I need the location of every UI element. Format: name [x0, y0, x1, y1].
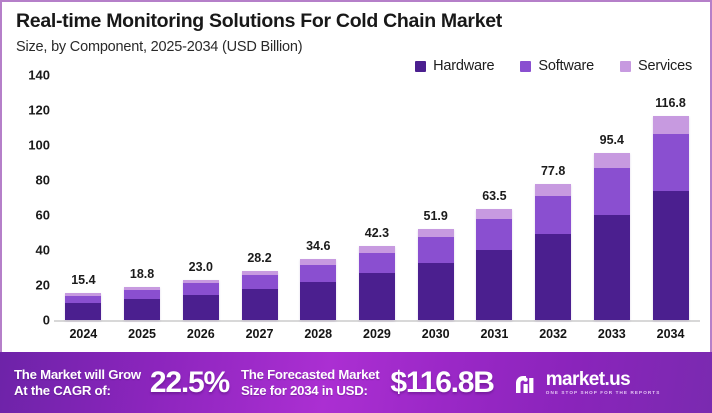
y-axis-tick: 80	[36, 173, 50, 188]
bar-segment-hardware	[65, 303, 101, 320]
bar-segment-hardware	[418, 263, 454, 320]
x-axis-tick: 2024	[69, 327, 97, 341]
stacked-bar[interactable]	[535, 184, 571, 320]
bar-segment-software	[476, 219, 512, 250]
logo-name: market.us	[546, 370, 661, 389]
bar-segment-services	[594, 153, 630, 168]
x-axis-tick: 2034	[657, 327, 685, 341]
legend-item-services[interactable]: Services	[620, 58, 692, 74]
bar-value-label: 42.3	[365, 226, 389, 240]
bar-group[interactable]: 18.82025	[122, 75, 162, 320]
y-axis: 020406080100120140	[2, 75, 50, 320]
cagr-block: The Market will Grow At the CAGR of: 22.…	[14, 366, 241, 400]
x-axis-tick: 2032	[539, 327, 567, 341]
bar-segment-hardware	[300, 282, 336, 320]
bar-segment-hardware	[183, 295, 219, 320]
legend-label: Hardware	[433, 58, 494, 74]
y-axis-tick: 100	[28, 138, 50, 153]
page-title: Real-time Monitoring Solutions For Cold …	[16, 10, 502, 33]
x-axis-tick: 2031	[480, 327, 508, 341]
stacked-bar[interactable]	[242, 271, 278, 320]
bar-segment-software	[535, 196, 571, 234]
bar-group[interactable]: 63.52031	[474, 75, 514, 320]
forecast-block: The Forecasted Market Size for 2034 in U…	[241, 366, 494, 400]
bar-segment-software	[65, 296, 101, 304]
forecast-value: $116.8B	[390, 366, 493, 400]
bar-segment-hardware	[594, 215, 630, 320]
stacked-bar[interactable]	[65, 293, 101, 320]
x-axis-tick: 2033	[598, 327, 626, 341]
chart-subtitle: Size, by Component, 2025-2034 (USD Billi…	[16, 39, 302, 55]
bar-group[interactable]: 15.42024	[63, 75, 103, 320]
bar-value-label: 34.6	[306, 239, 330, 253]
bar-group[interactable]: 77.82032	[533, 75, 573, 320]
legend-item-hardware[interactable]: Hardware	[415, 58, 494, 74]
x-axis-tick: 2030	[422, 327, 450, 341]
chart-legend: HardwareSoftwareServices	[415, 58, 692, 74]
logo-bars-icon	[514, 371, 540, 395]
bar-segment-services	[535, 184, 571, 196]
x-axis-tick: 2025	[128, 327, 156, 341]
bar-segment-software	[242, 275, 278, 289]
bar-segment-hardware	[359, 273, 395, 320]
y-axis-tick: 140	[28, 68, 50, 83]
bar-value-label: 116.8	[655, 96, 686, 110]
cagr-label: The Market will Grow At the CAGR of:	[14, 367, 141, 398]
bar-value-label: 23.0	[189, 260, 213, 274]
x-axis-tick: 2027	[246, 327, 274, 341]
legend-item-software[interactable]: Software	[520, 58, 594, 74]
stacked-bar[interactable]	[476, 209, 512, 320]
stacked-bar[interactable]	[300, 259, 336, 320]
legend-swatch-icon	[620, 61, 631, 72]
cagr-value: 22.5%	[150, 366, 229, 400]
stacked-bar[interactable]	[183, 280, 219, 320]
legend-swatch-icon	[415, 61, 426, 72]
legend-swatch-icon	[520, 61, 531, 72]
forecast-label-line2: Size for 2034 in USD:	[241, 383, 379, 399]
stacked-bar[interactable]	[418, 229, 454, 320]
x-axis-baseline	[54, 320, 700, 322]
y-axis-tick: 120	[28, 103, 50, 118]
bar-segment-software	[124, 290, 160, 299]
bar-segment-software	[653, 134, 689, 191]
y-axis-tick: 40	[36, 243, 50, 258]
bar-segment-software	[300, 265, 336, 282]
bar-value-label: 63.5	[482, 189, 506, 203]
bar-segment-hardware	[124, 299, 160, 320]
bar-value-label: 15.4	[71, 273, 95, 287]
logo-tagline: ONE STOP SHOP FOR THE REPORTS	[546, 391, 661, 396]
bar-value-label: 18.8	[130, 267, 154, 281]
forecast-label-line1: The Forecasted Market	[241, 367, 379, 383]
bar-segment-services	[418, 229, 454, 237]
cagr-label-line2: At the CAGR of:	[14, 383, 141, 399]
bar-segment-services	[653, 116, 689, 134]
legend-label: Software	[538, 58, 594, 74]
cagr-label-line1: The Market will Grow	[14, 367, 141, 383]
y-axis-tick: 60	[36, 208, 50, 223]
bar-value-label: 77.8	[541, 164, 565, 178]
bar-segment-services	[359, 246, 395, 253]
bar-series-area: 15.4202418.8202523.0202628.2202734.62028…	[54, 75, 700, 320]
bar-group[interactable]: 23.02026	[181, 75, 221, 320]
stacked-bar[interactable]	[594, 153, 630, 320]
bar-value-label: 51.9	[424, 209, 448, 223]
bar-segment-hardware	[653, 191, 689, 320]
y-axis-tick: 20	[36, 278, 50, 293]
market-us-logo[interactable]: market.us ONE STOP SHOP FOR THE REPORTS	[514, 370, 661, 396]
x-axis-tick: 2028	[304, 327, 332, 341]
bar-group[interactable]: 28.22027	[240, 75, 280, 320]
bar-segment-software	[183, 283, 219, 294]
stacked-bar[interactable]	[359, 246, 395, 320]
bar-segment-services	[476, 209, 512, 219]
bar-value-label: 28.2	[247, 251, 271, 265]
bar-segment-software	[594, 168, 630, 215]
bar-group[interactable]: 51.92030	[416, 75, 456, 320]
x-axis-tick: 2029	[363, 327, 391, 341]
bar-group[interactable]: 116.82034	[651, 75, 691, 320]
bar-group[interactable]: 42.32029	[357, 75, 397, 320]
logo-text: market.us ONE STOP SHOP FOR THE REPORTS	[546, 370, 661, 396]
bar-segment-hardware	[242, 289, 278, 320]
bar-segment-hardware	[535, 234, 571, 320]
bar-segment-software	[359, 253, 395, 274]
chart-card: Real-time Monitoring Solutions For Cold …	[0, 0, 712, 352]
summary-banner: The Market will Grow At the CAGR of: 22.…	[0, 352, 712, 413]
forecast-label: The Forecasted Market Size for 2034 in U…	[241, 367, 379, 398]
x-axis-tick: 2026	[187, 327, 215, 341]
y-axis-tick: 0	[43, 313, 50, 328]
chart-infographic: Real-time Monitoring Solutions For Cold …	[0, 0, 712, 413]
bar-group[interactable]: 95.42033	[592, 75, 632, 320]
bar-value-label: 95.4	[600, 133, 624, 147]
stacked-bar[interactable]	[653, 116, 689, 320]
bar-segment-hardware	[476, 250, 512, 320]
bar-segment-software	[418, 237, 454, 262]
stacked-bar[interactable]	[124, 287, 160, 320]
bar-group[interactable]: 34.62028	[298, 75, 338, 320]
legend-label: Services	[638, 58, 692, 74]
